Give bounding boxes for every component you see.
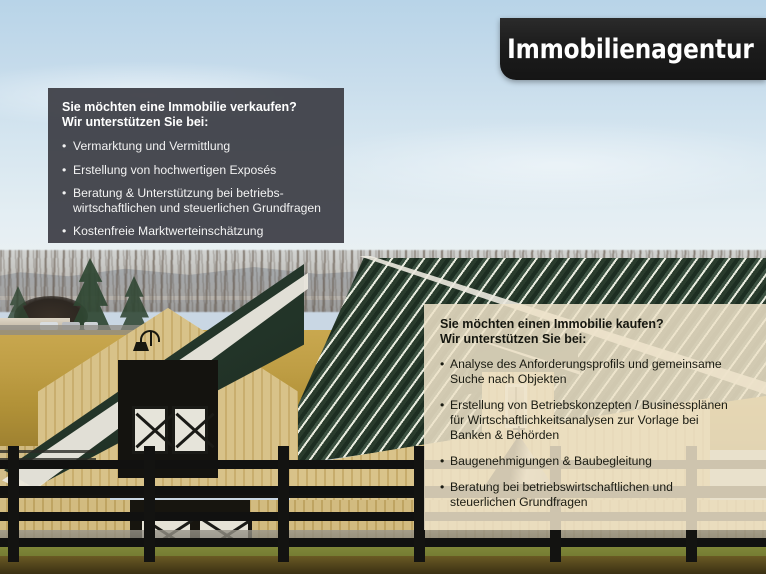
bullet-marker: • [62, 163, 66, 178]
list-item-line: Vermarktung und Vermittlung [73, 139, 230, 153]
list-item: • Beratung bei betriebswirtschaftlichen … [440, 480, 752, 510]
bullet-marker: • [440, 480, 444, 495]
list-item-line: Analyse des Anforderungsprofils und geme… [450, 357, 722, 371]
panel-sell-headline-line1: Sie möchten eine Immobilie verkaufen? [62, 100, 330, 115]
list-item-line: Beratung bei betriebswirtschaftlichen un… [450, 480, 673, 494]
cloud-wisp-right [300, 120, 766, 210]
list-item-line: Banken & Behörden [450, 428, 559, 442]
page-title: Immobilienagentur [508, 34, 754, 65]
fence-rail [0, 538, 766, 547]
list-item-line: steuerlichen Grundfragen [450, 495, 588, 509]
bullet-marker: • [62, 224, 66, 239]
panel-sell-headline: Sie möchten eine Immobilie verkaufen? Wi… [62, 100, 330, 130]
list-item: • Analyse des Anforderungsprofils und ge… [440, 357, 752, 387]
fence-post [278, 446, 289, 562]
list-item-line: Suche nach Objekten [450, 372, 567, 386]
panel-sell-property: Sie möchten eine Immobilie verkaufen? Wi… [48, 88, 344, 243]
list-item: • Beratung & Unterstützung bei betriebs-… [62, 186, 330, 215]
bullet-marker: • [62, 139, 66, 154]
list-item: • Erstellung von hochwertigen Exposés [62, 163, 330, 178]
panel-sell-headline-line2: Wir unterstützen Sie bei: [62, 115, 330, 130]
list-item: • Erstellung von Betriebskonzepten / Bus… [440, 398, 752, 443]
gooseneck-lamp-stem [150, 332, 152, 346]
bullet-marker: • [440, 357, 444, 372]
list-item: • Baugenehmigungen & Baubegleitung [440, 454, 752, 469]
fence-post [144, 446, 155, 562]
list-item-line: Kostenfreie Marktwerteinschätzung [73, 224, 263, 238]
bullet-marker: • [440, 398, 444, 413]
panel-buy-headline-line1: Sie möchten einen Immobilie kaufen? [440, 317, 752, 332]
panel-buy-list: • Analyse des Anforderungsprofils und ge… [440, 357, 752, 510]
list-item-line: Erstellung von hochwertigen Exposés [73, 163, 276, 177]
list-item-line: Erstellung von Betriebskonzepten / Busin… [450, 398, 728, 412]
panel-buy-property: Sie möchten einen Immobilie kaufen? Wir … [424, 304, 766, 530]
title-banner: Immobilienagentur [500, 18, 766, 80]
list-item-line: für Wirtschaftlichkeitsanalysen zur Vorl… [450, 413, 699, 427]
list-item: • Kostenfreie Marktwerteinschätzung [62, 224, 330, 239]
slide-canvas: Immobilienagentur Sie möchten eine Immob… [0, 0, 766, 574]
panel-buy-headline-line2: Wir unterstützen Sie bei: [440, 332, 752, 347]
bullet-marker: • [440, 454, 444, 469]
panel-sell-list: • Vermarktung und Vermittlung • Erstellu… [62, 139, 330, 239]
list-item-line: wirtschaftlichen und steuerlichen Grundf… [73, 201, 321, 215]
panel-buy-headline: Sie möchten einen Immobilie kaufen? Wir … [440, 317, 752, 347]
list-item: • Vermarktung und Vermittlung [62, 139, 330, 154]
fence-post [8, 446, 19, 562]
list-item-line: Baugenehmigungen & Baubegleitung [450, 454, 652, 468]
bullet-marker: • [62, 186, 66, 201]
list-item-line: Beratung & Unterstützung bei betriebs- [73, 186, 284, 200]
